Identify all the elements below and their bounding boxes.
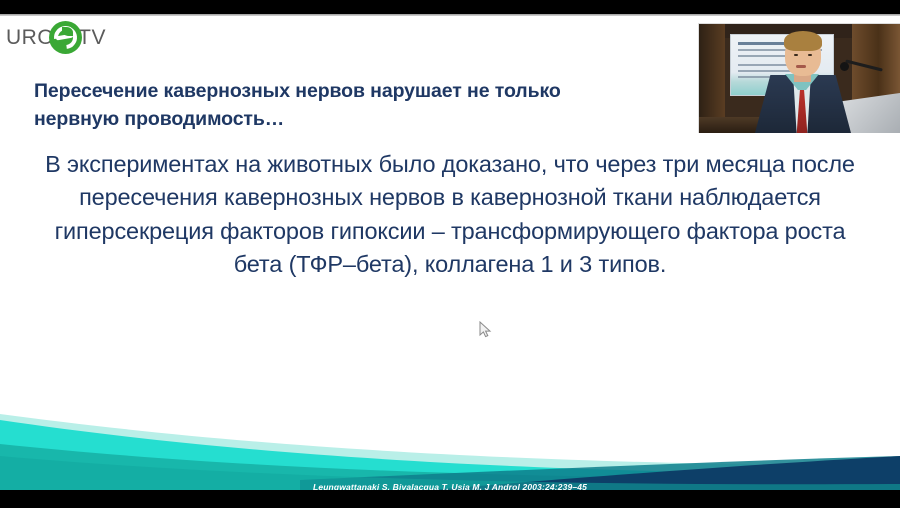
decorative-wave-graphic [0, 370, 900, 490]
logo-suffix-text: TV [78, 27, 106, 48]
speaker-hair [784, 31, 822, 51]
citation-text: Leungwattanaki S, Bivalacgua T, Usia M. … [0, 482, 900, 490]
speaker-eye [794, 54, 798, 56]
presentation-slide: URO TV [0, 16, 900, 490]
speaker-eye [808, 54, 812, 56]
slide-body-text: В экспериментах на животных было доказан… [38, 148, 862, 281]
letterbox-top-bar [0, 0, 900, 14]
mouse-pointer-icon [479, 321, 493, 339]
microphone-head [840, 62, 849, 71]
uro-e-logo-icon [49, 21, 82, 54]
video-player-screen: URO TV [0, 0, 900, 508]
logo-prefix-text: URO [6, 27, 54, 48]
speaker-mouth [796, 65, 806, 68]
urotv-logo[interactable]: URO TV [6, 20, 106, 54]
letterbox-bottom-bar [0, 490, 900, 508]
speaker-camera-feed[interactable] [698, 23, 900, 133]
slide-title: Пересечение кавернозных нервов нарушает … [34, 78, 634, 133]
